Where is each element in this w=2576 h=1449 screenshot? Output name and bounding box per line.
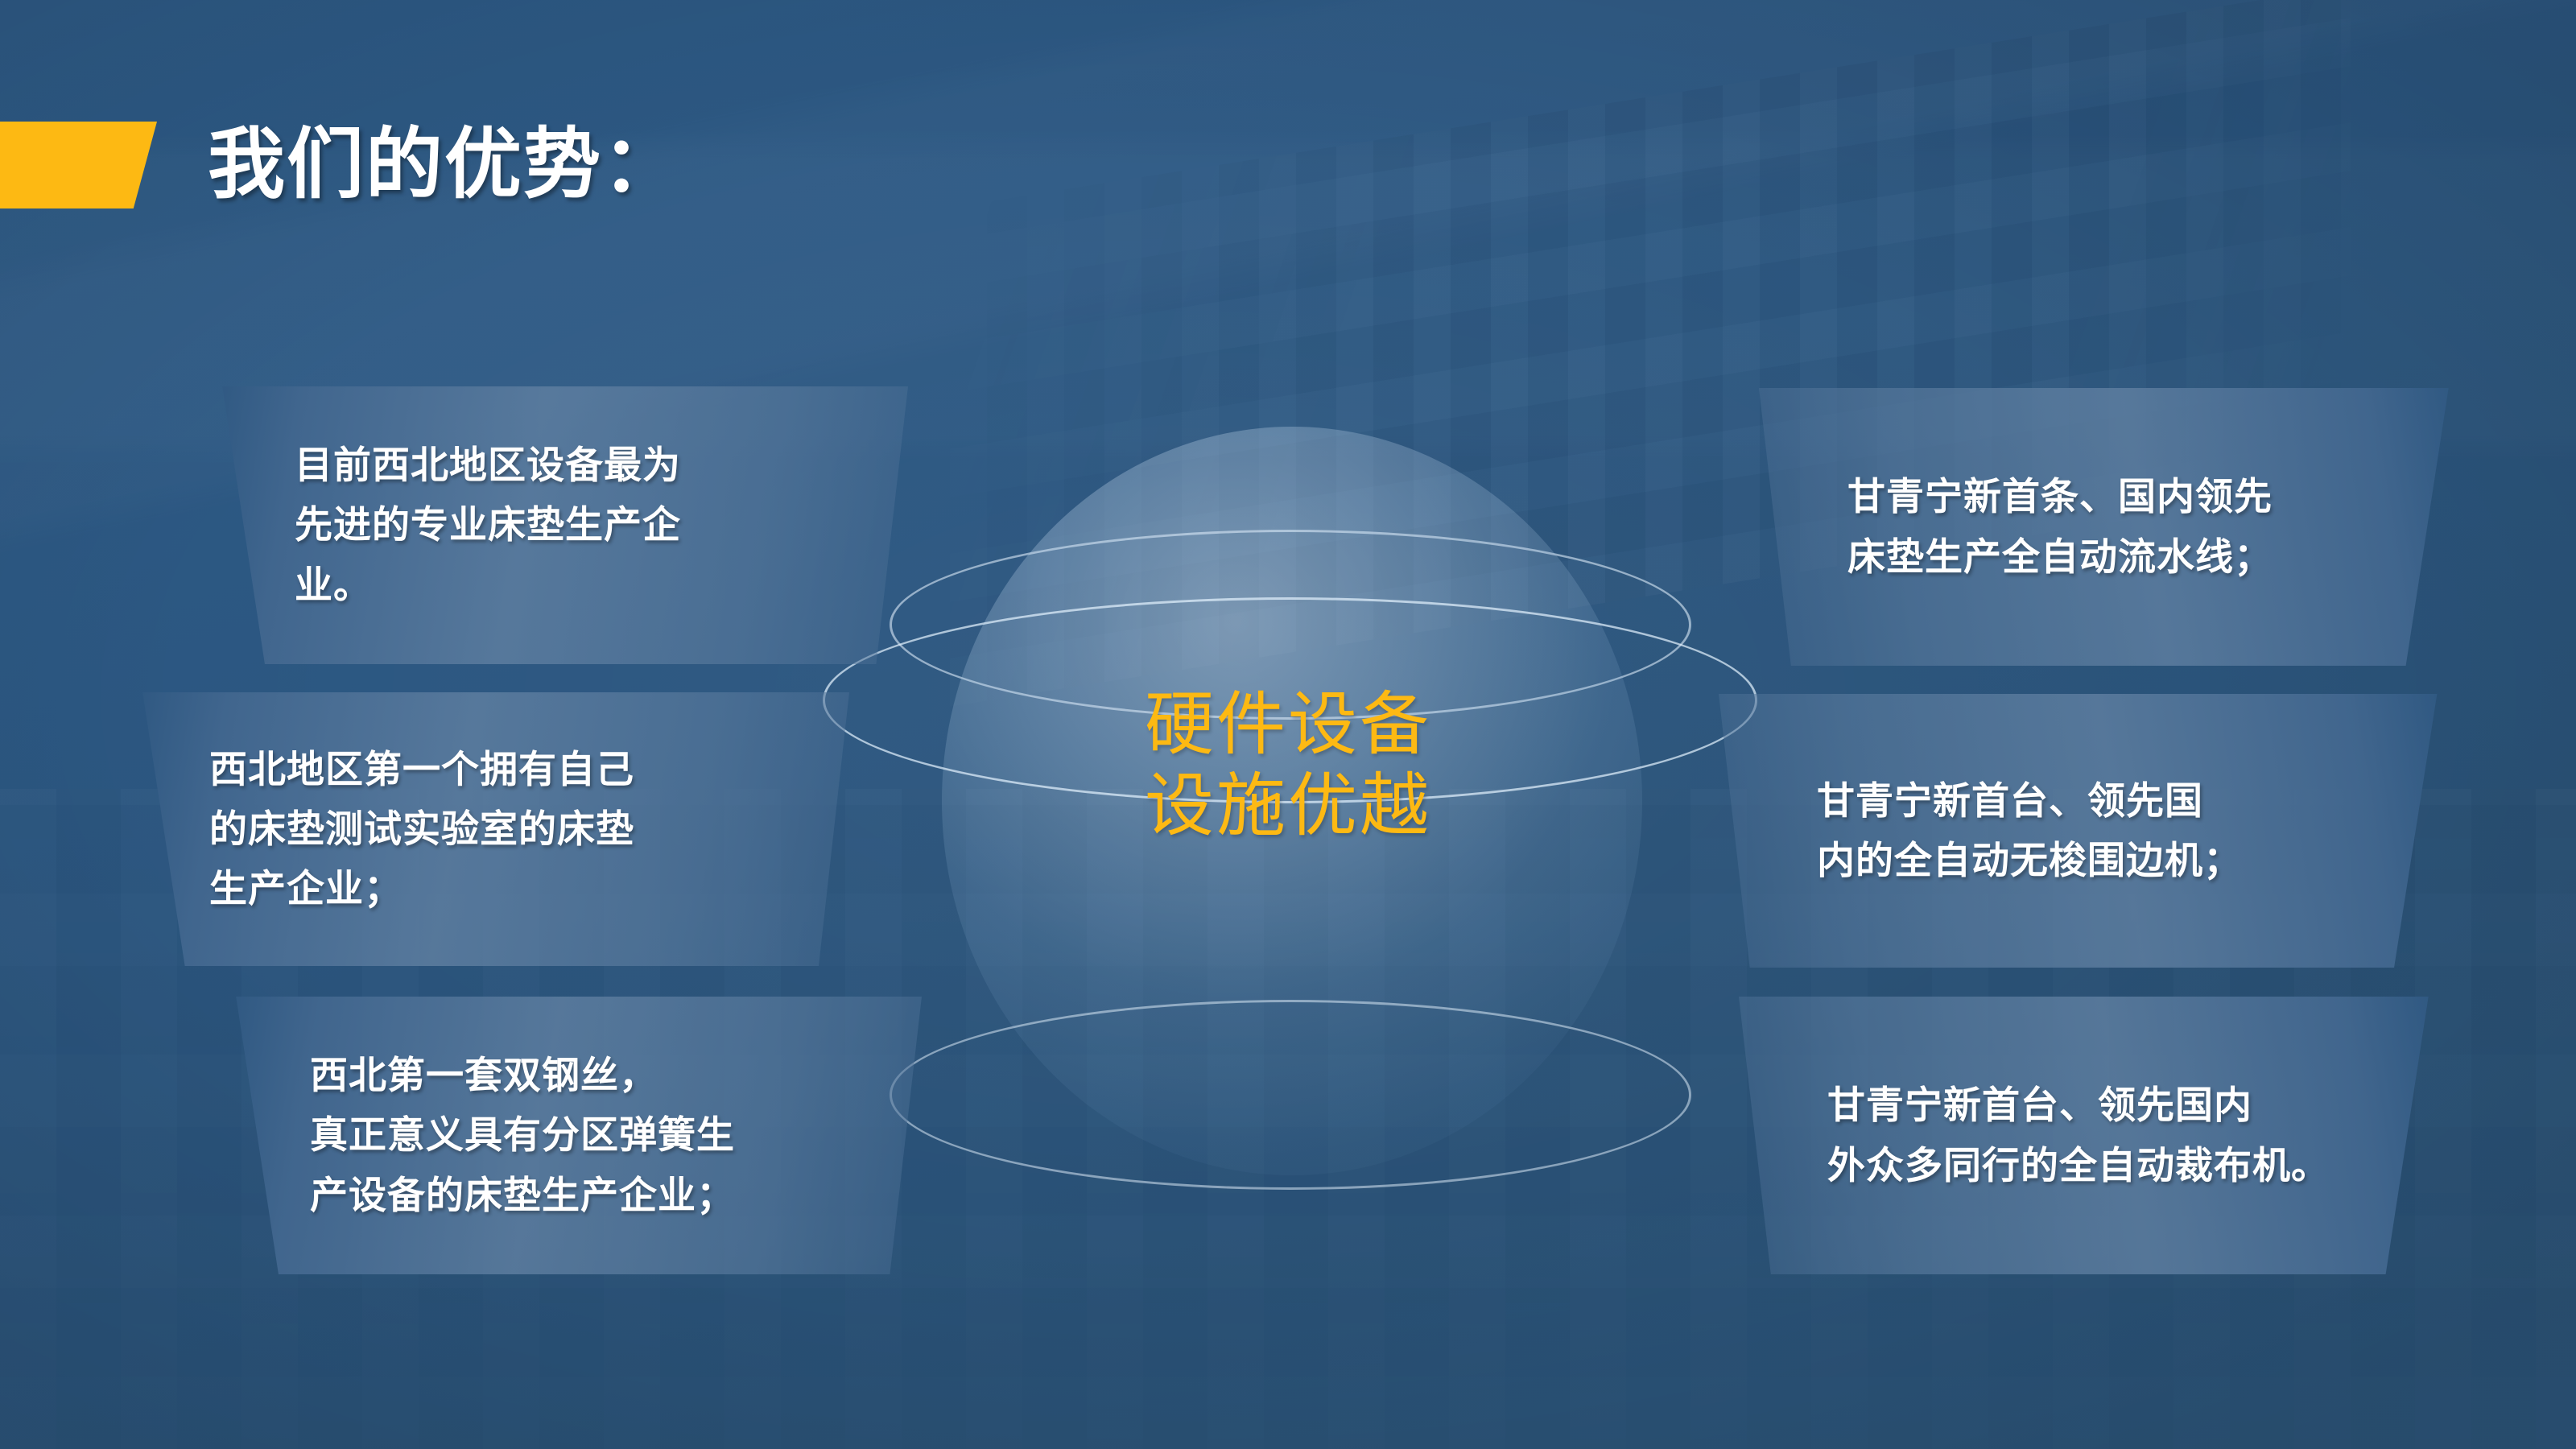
advantage-panel-left-2-text: 西北地区第一个拥有自己 的床垫测试实验室的床垫 生产企业；: [209, 740, 634, 919]
advantage-panel-right-3-text: 甘青宁新首台、领先国内 外众多同行的全自动裁布机。: [1827, 1075, 2330, 1195]
panel-line: 甘青宁新首条、国内领先: [1847, 467, 2273, 526]
advantage-panel-right-2[interactable]: 甘青宁新首台、领先国 内的全自动无梭围边机；: [1719, 694, 2459, 968]
panel-line: 先进的专业床垫生产企: [295, 495, 681, 555]
panel-line: 甘青宁新首台、领先国: [1817, 771, 2242, 831]
advantage-panel-right-1[interactable]: 甘青宁新首条、国内领先 床垫生产全自动流水线；: [1759, 388, 2471, 666]
advantage-panel-left-3[interactable]: 西北第一套双钢丝， 真正意义具有分区弹簧生 产设备的床垫生产企业；: [213, 997, 922, 1274]
panel-line: 外众多同行的全自动裁布机。: [1827, 1136, 2330, 1195]
center-label-line-2: 设施优越: [869, 766, 1707, 847]
panel-line: 西北地区第一个拥有自己: [209, 740, 634, 799]
advantage-panel-left-2[interactable]: 西北地区第一个拥有自己 的床垫测试实验室的床垫 生产企业；: [121, 692, 849, 966]
slide-title-bar: 我们的优势：: [0, 113, 681, 217]
advantage-panel-left-1[interactable]: 目前西北地区设备最为 先进的专业床垫生产企 业。: [200, 386, 908, 664]
panel-line: 生产企业；: [209, 859, 634, 919]
panel-line: 甘青宁新首台、领先国内: [1827, 1075, 2330, 1135]
panel-line: 产设备的床垫生产企业；: [310, 1166, 735, 1225]
advantage-panel-left-1-text: 目前西北地区设备最为 先进的专业床垫生产企 业。: [295, 436, 681, 615]
center-label: 硬件设备 设施优越: [869, 684, 1707, 848]
panel-line: 目前西北地区设备最为: [295, 436, 681, 495]
page-title: 我们的优势：: [208, 126, 681, 204]
advantage-panel-right-3[interactable]: 甘青宁新首台、领先国内 外众多同行的全自动裁布机。: [1739, 997, 2451, 1274]
panel-line: 床垫生产全自动流水线；: [1847, 527, 2273, 587]
slide-root: 我们的优势： 硬件设备 设施优越 目前西北地区设备最为 先进的专业床垫生产企 业…: [0, 0, 2576, 1449]
title-accent-badge-icon: [0, 122, 157, 208]
center-label-line-1: 硬件设备: [869, 684, 1707, 766]
panel-line: 真正意义具有分区弹簧生: [310, 1105, 735, 1165]
advantage-panel-right-2-text: 甘青宁新首台、领先国 内的全自动无梭围边机；: [1817, 771, 2242, 891]
advantage-panel-right-1-text: 甘青宁新首条、国内领先 床垫生产全自动流水线；: [1847, 467, 2273, 587]
panel-line: 的床垫测试实验室的床垫: [209, 799, 634, 859]
center-globe-graphic: 硬件设备 设施优越: [869, 394, 1707, 1216]
advantage-panel-left-3-text: 西北第一套双钢丝， 真正意义具有分区弹簧生 产设备的床垫生产企业；: [310, 1046, 735, 1225]
panel-line: 内的全自动无梭围边机；: [1817, 831, 2242, 890]
panel-line: 西北第一套双钢丝，: [310, 1046, 735, 1105]
panel-line: 业。: [295, 555, 681, 615]
globe-ring-bottom-icon: [890, 1000, 1691, 1190]
